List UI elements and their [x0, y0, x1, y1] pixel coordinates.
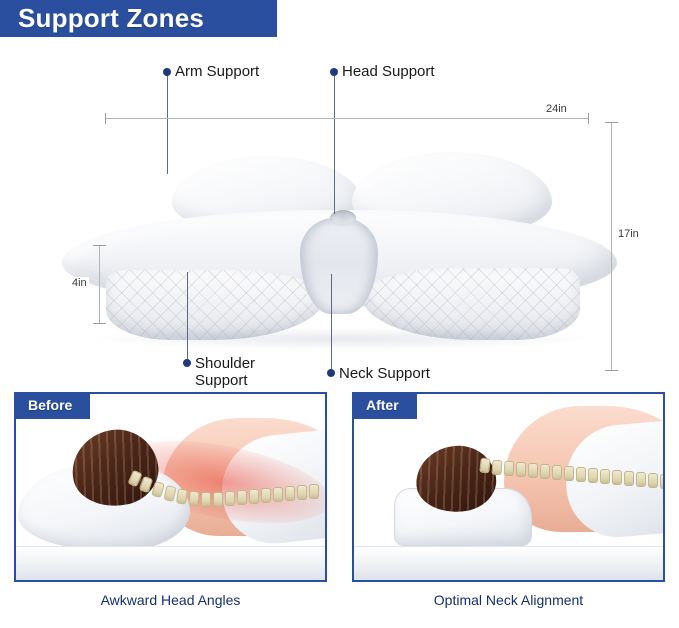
page-title: Support Zones — [0, 3, 204, 34]
vertebra — [285, 486, 295, 501]
vertebra — [600, 469, 610, 484]
leader-line-shoulder — [187, 272, 188, 362]
vertebra — [516, 462, 526, 477]
dimension-line-height — [611, 122, 612, 370]
vertebra — [660, 474, 665, 489]
dimension-label-loft: 4in — [70, 277, 89, 289]
before-mattress — [16, 546, 325, 580]
pillow-shadow — [92, 328, 592, 350]
vertebra — [588, 468, 598, 483]
callout-head-support: Head Support — [330, 63, 435, 80]
leader-line-neck — [331, 274, 332, 369]
callout-label: Shoulder Support — [195, 355, 255, 389]
vertebra — [249, 489, 259, 504]
vertebra — [540, 464, 550, 479]
pillow-illustration — [62, 132, 617, 367]
vertebra — [261, 488, 271, 503]
vertebra — [176, 488, 188, 504]
comparison-section: Before — [0, 392, 679, 628]
vertebra — [564, 466, 574, 481]
dimension-label-width: 24in — [544, 103, 569, 115]
vertebra — [479, 458, 491, 474]
vertebra — [624, 471, 634, 486]
vertebra — [309, 484, 319, 499]
callout-arm-support: Arm Support — [163, 63, 259, 80]
callout-dot-icon — [183, 359, 191, 367]
before-illustration — [16, 394, 325, 580]
dimension-line-loft — [99, 245, 100, 323]
before-badge: Before — [14, 392, 90, 419]
vertebra — [225, 491, 235, 506]
after-panel: After — [352, 392, 665, 582]
callout-shoulder-support: Shoulder Support — [183, 355, 255, 389]
pillow-neck-cradle — [300, 218, 378, 314]
dimension-tick-height-bottom — [605, 370, 618, 371]
callout-dot-icon — [330, 68, 338, 76]
vertebra — [237, 490, 247, 505]
vertebra — [297, 485, 307, 500]
callout-dot-icon — [327, 369, 335, 377]
before-panel: Before — [14, 392, 327, 582]
vertebra — [201, 492, 211, 507]
dimension-label-height: 17in — [616, 228, 641, 240]
after-illustration — [354, 394, 663, 580]
callout-label: Neck Support — [339, 365, 430, 382]
vertebra — [504, 461, 515, 477]
vertebra — [213, 492, 223, 507]
dimension-tick-loft-top — [93, 245, 106, 246]
dimension-tick-height-top — [605, 122, 618, 123]
vertebra — [612, 470, 622, 485]
vertebra — [188, 491, 199, 507]
after-mattress — [354, 546, 663, 580]
vertebra — [636, 472, 646, 487]
product-hero: Arm Support Head Support Shoulder Suppor… — [0, 37, 679, 389]
vertebra — [528, 463, 538, 478]
vertebra — [273, 487, 283, 502]
callout-label: Head Support — [342, 63, 435, 80]
vertebra — [491, 460, 502, 476]
page-title-banner: Support Zones — [0, 0, 277, 37]
callout-label: Arm Support — [175, 63, 259, 80]
after-badge: After — [352, 392, 417, 419]
before-caption: Awkward Head Angles — [14, 592, 327, 608]
dimension-tick-loft-bottom — [93, 323, 106, 324]
dimension-line-width — [105, 118, 588, 119]
callout-neck-support: Neck Support — [327, 365, 430, 382]
dimension-tick-width-right — [588, 113, 589, 124]
leader-line-head — [334, 69, 335, 214]
vertebra — [576, 467, 586, 482]
vertebra — [648, 473, 658, 488]
vertebra — [552, 465, 562, 480]
leader-line-arm — [167, 69, 168, 174]
callout-dot-icon — [163, 68, 171, 76]
dimension-tick-width-left — [105, 113, 106, 124]
after-caption: Optimal Neck Alignment — [352, 592, 665, 608]
